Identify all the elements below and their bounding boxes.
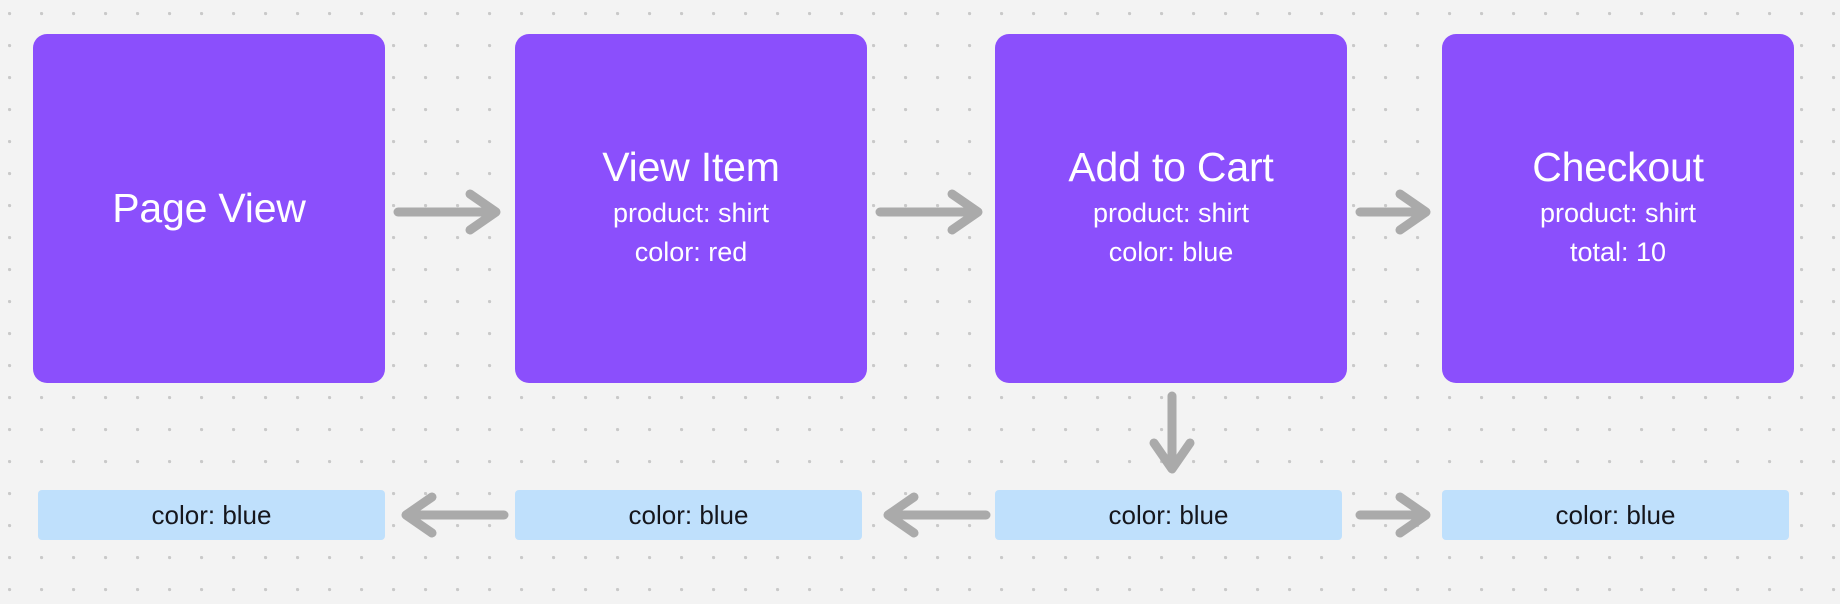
- property-bar-checkout[interactable]: color: blue: [1442, 490, 1789, 540]
- event-node-property: product: shirt: [1540, 197, 1696, 231]
- diagram-canvas: Page View View Item product: shirt color…: [0, 0, 1840, 604]
- event-node-property: product: shirt: [613, 197, 769, 231]
- property-bar-label: color: blue: [1556, 502, 1676, 528]
- property-bar-label: color: blue: [152, 502, 272, 528]
- property-bar-page-view[interactable]: color: blue: [38, 490, 385, 540]
- arrow-bar-view-item-to-bar-page-view: [396, 493, 506, 537]
- arrow-add-to-cart-to-bar: [1148, 393, 1196, 477]
- event-node-title: Page View: [112, 188, 305, 229]
- arrow-bar-add-to-cart-to-bar-checkout: [1358, 493, 1436, 537]
- event-node-property: product: shirt: [1093, 197, 1249, 231]
- event-node-properties: product: shirt total: 10: [1540, 197, 1696, 270]
- event-node-title: Add to Cart: [1068, 147, 1273, 188]
- property-bar-label: color: blue: [1109, 502, 1229, 528]
- arrow-view-item-to-add-to-cart: [878, 190, 988, 234]
- arrow-bar-add-to-cart-to-bar-view-item: [878, 493, 988, 537]
- event-node-view-item[interactable]: View Item product: shirt color: red: [515, 34, 867, 383]
- event-node-page-view[interactable]: Page View: [33, 34, 385, 383]
- property-bar-label: color: blue: [629, 502, 749, 528]
- arrow-add-to-cart-to-checkout: [1358, 190, 1436, 234]
- event-node-property: total: 10: [1570, 236, 1666, 270]
- event-node-property: color: blue: [1109, 236, 1234, 270]
- property-bar-view-item[interactable]: color: blue: [515, 490, 862, 540]
- arrow-page-view-to-view-item: [396, 190, 506, 234]
- event-node-property: color: red: [635, 236, 748, 270]
- property-bar-add-to-cart[interactable]: color: blue: [995, 490, 1342, 540]
- event-node-title: Checkout: [1532, 147, 1704, 188]
- event-node-properties: product: shirt color: red: [613, 197, 769, 270]
- event-node-title: View Item: [602, 147, 779, 188]
- event-node-add-to-cart[interactable]: Add to Cart product: shirt color: blue: [995, 34, 1347, 383]
- event-node-checkout[interactable]: Checkout product: shirt total: 10: [1442, 34, 1794, 383]
- event-node-properties: product: shirt color: blue: [1093, 197, 1249, 270]
